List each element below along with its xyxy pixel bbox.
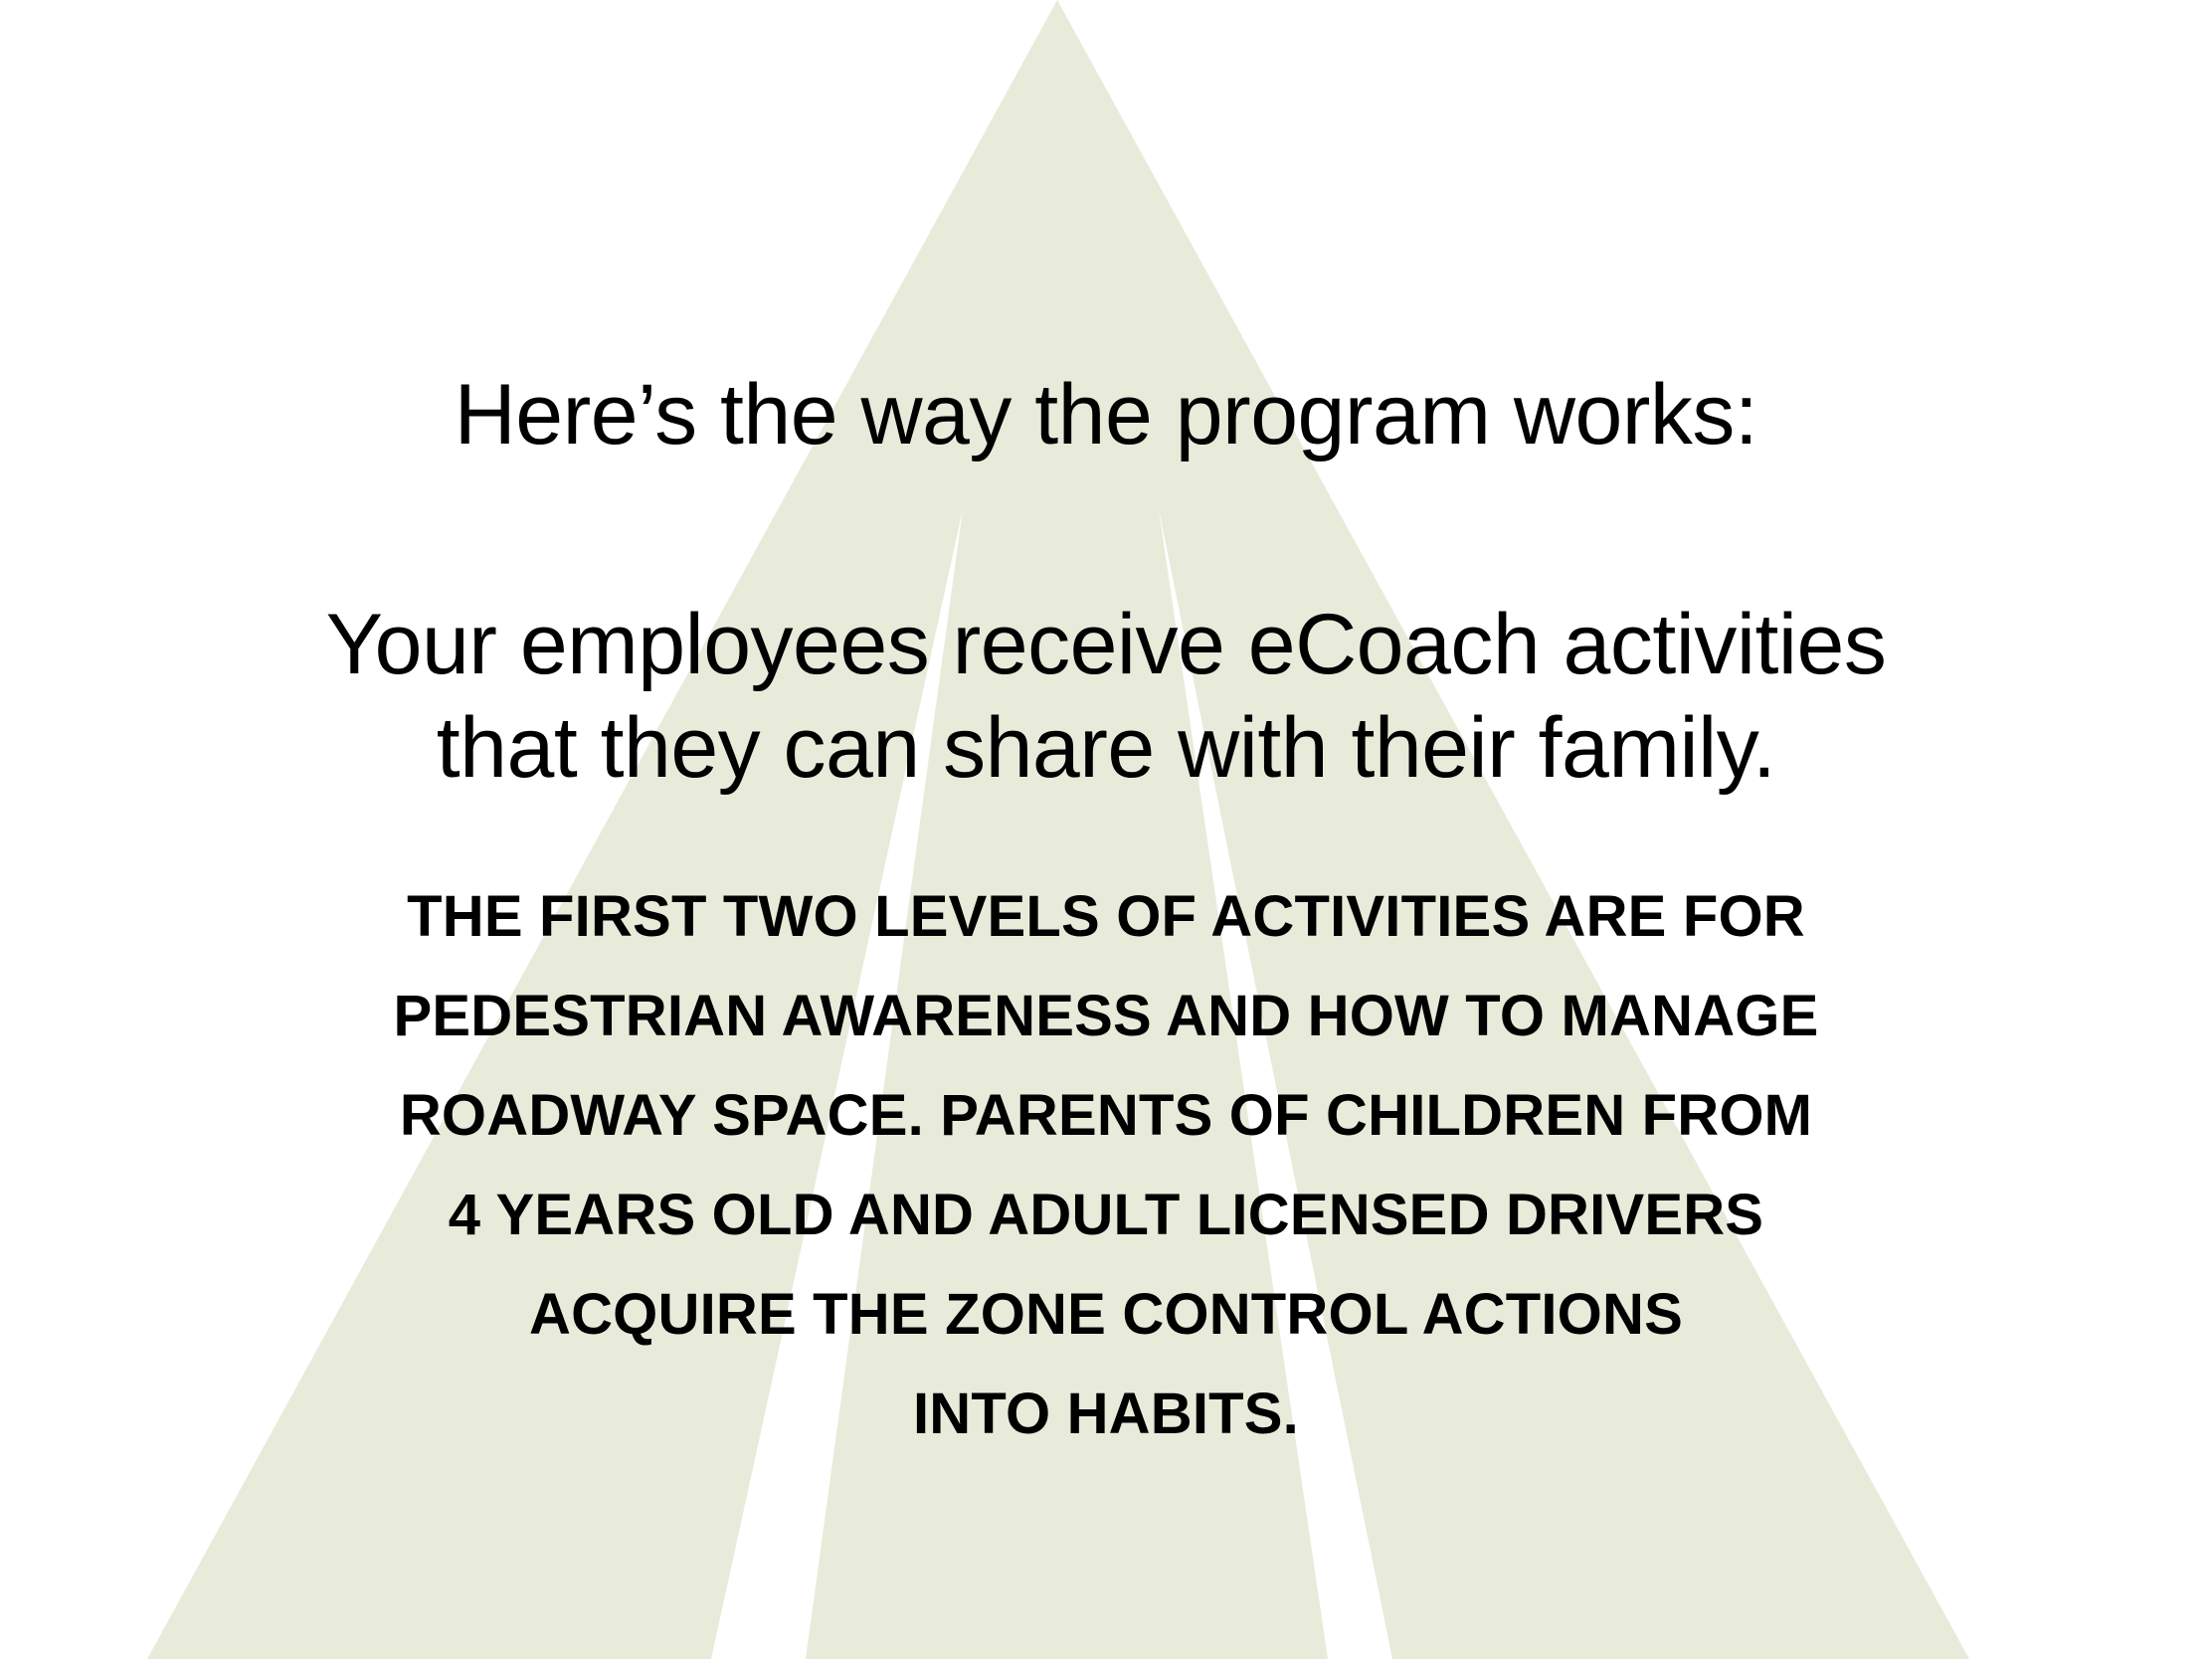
subheadline-line-2: that they can share with their family.: [111, 696, 2101, 800]
headline-line-1: Here’s the way the program works:: [111, 366, 2101, 463]
detail-line-3: ROADWAY SPACE. PARENTS OF CHILDREN FROM: [111, 1066, 2101, 1166]
detail-paragraph: THE FIRST TWO LEVELS OF ACTIVITIES ARE F…: [111, 867, 2101, 1464]
detail-line-2: PEDESTRIAN AWARENESS AND HOW TO MANAGE: [111, 967, 2101, 1066]
subheadline: Your employees receive eCoach activities…: [111, 593, 2101, 800]
headline: Here’s the way the program works:: [111, 366, 2101, 463]
detail-line-1: THE FIRST TWO LEVELS OF ACTIVITIES ARE F…: [111, 867, 2101, 967]
presentation-slide: Here’s the way the program works: Your e…: [0, 0, 2212, 1659]
subheadline-line-1: Your employees receive eCoach activities: [111, 593, 2101, 696]
detail-line-6: INTO HABITS.: [111, 1365, 2101, 1464]
slide-content: Here’s the way the program works: Your e…: [0, 0, 2212, 1659]
detail-line-5: ACQUIRE THE ZONE CONTROL ACTIONS: [111, 1265, 2101, 1365]
detail-line-4: 4 YEARS OLD AND ADULT LICENSED DRIVERS: [111, 1166, 2101, 1265]
